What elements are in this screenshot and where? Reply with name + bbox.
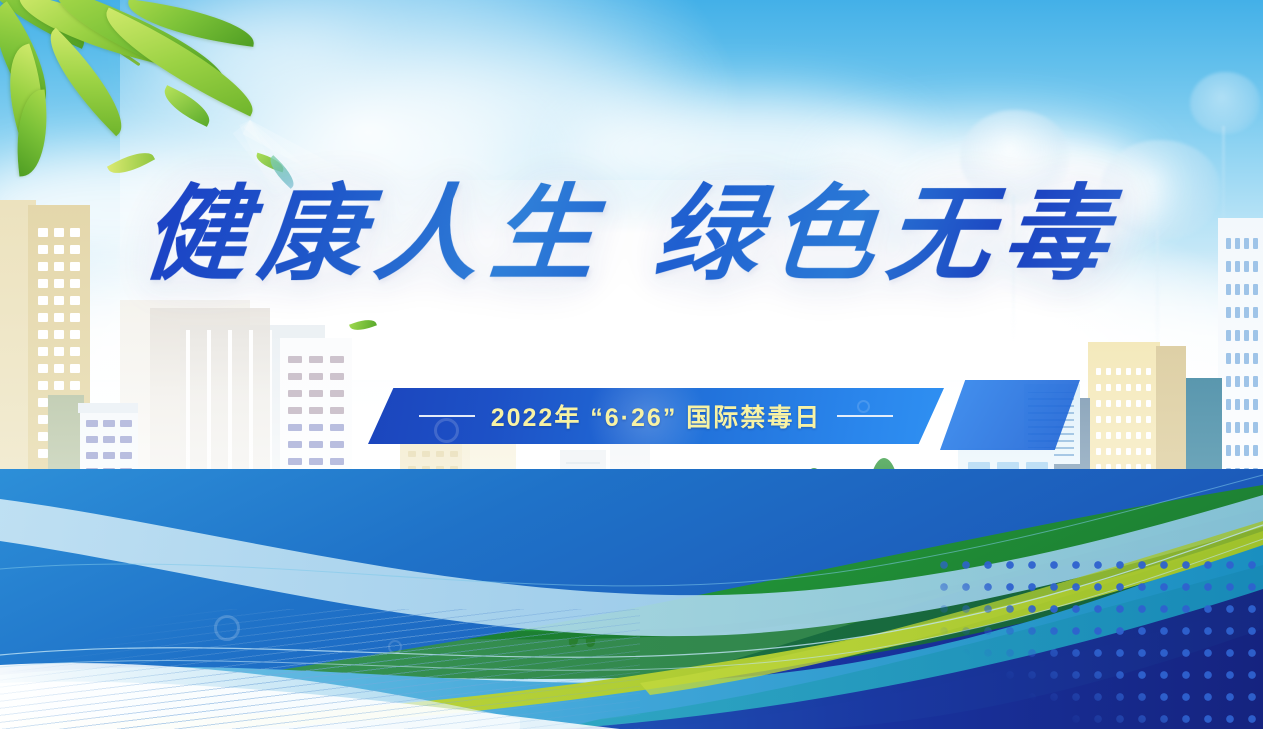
poster-canvas: 健康人生 绿色无毒 2022年 “6·26” 国际禁毒日 [0, 0, 1263, 729]
circle-decor-b [388, 640, 402, 654]
subtitle-banner: 2022年 “6·26” 国际禁毒日 [368, 388, 944, 444]
banner-left-rule [419, 415, 475, 417]
circle-decor-a [214, 615, 240, 641]
subtitle-text: 2022年 “6·26” 国际禁毒日 [491, 398, 822, 434]
banner-right-rule [837, 415, 893, 417]
wave-ribbons [0, 469, 1263, 729]
